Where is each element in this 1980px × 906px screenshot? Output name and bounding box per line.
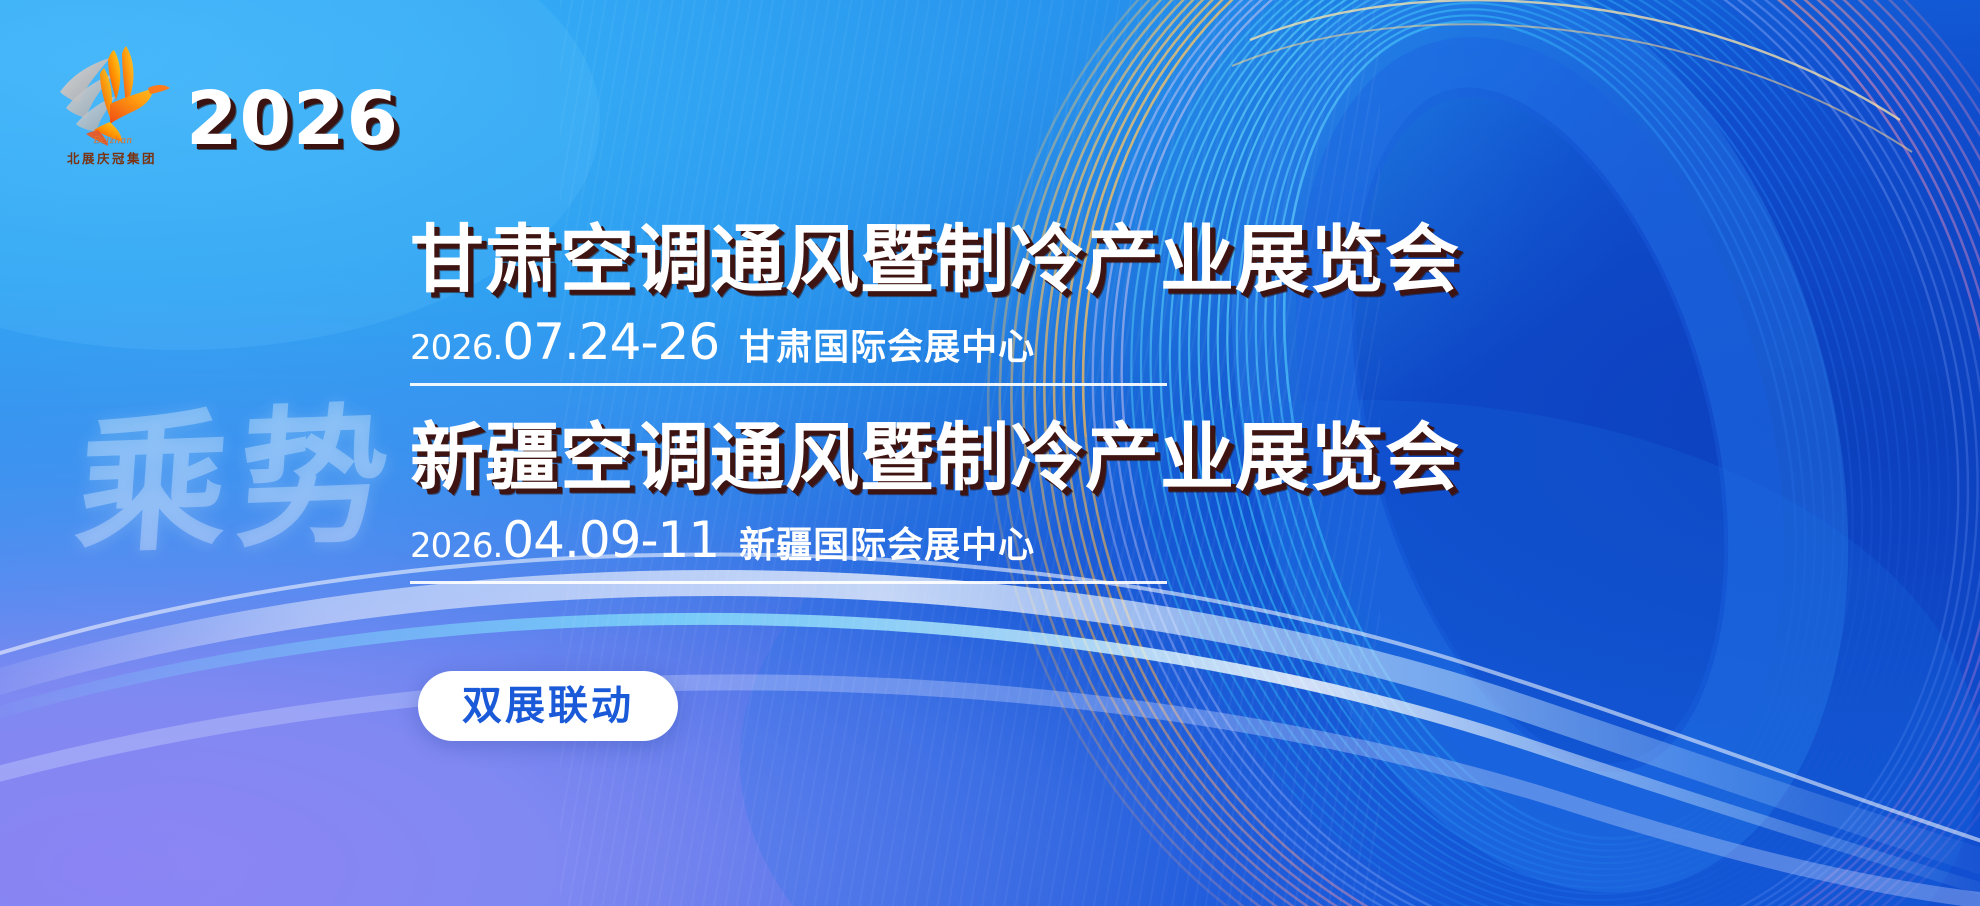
- calligraphy-watermark: 乘势: [72, 400, 404, 561]
- exhibition-banner: 乘势: [0, 0, 1980, 906]
- event-venue-1: 甘肃国际会展中心: [739, 318, 1035, 370]
- dual-expo-badge[interactable]: 双展联动: [418, 671, 678, 741]
- event-date-range-2: 04.09-11: [502, 511, 719, 569]
- event-title-1: 甘肃空调通风暨制冷产业展览会: [410, 222, 1590, 299]
- event-date-range-1: 07.24-26: [502, 313, 719, 371]
- phoenix-bird-logo-icon: [52, 42, 172, 147]
- event-date-year-2: 2026.: [410, 526, 502, 566]
- event-date-1: 2026. 07.24-26: [410, 313, 719, 371]
- event-date-year-1: 2026.: [410, 328, 502, 368]
- event-copy-block: 甘肃空调通风暨制冷产业展览会 2026. 07.24-26 甘肃国际会展中心 新…: [410, 222, 1590, 584]
- event-title-2: 新疆空调通风暨制冷产业展览会: [410, 420, 1590, 497]
- logo-script-wordmark: Beizhan: [58, 134, 168, 146]
- event-date-2: 2026. 04.09-11: [410, 511, 719, 569]
- event-subline-1: 2026. 07.24-26 甘肃国际会展中心: [410, 313, 1167, 386]
- dual-expo-badge-label: 双展联动: [462, 684, 634, 728]
- year-label: 2026: [186, 82, 400, 156]
- event-venue-2: 新疆国际会展中心: [739, 516, 1035, 568]
- event-subline-2: 2026. 04.09-11 新疆国际会展中心: [410, 511, 1167, 584]
- logo-company-name: 北展庆冠集团: [52, 148, 172, 167]
- organizer-logo[interactable]: Beizhan 北展庆冠集团: [52, 42, 172, 172]
